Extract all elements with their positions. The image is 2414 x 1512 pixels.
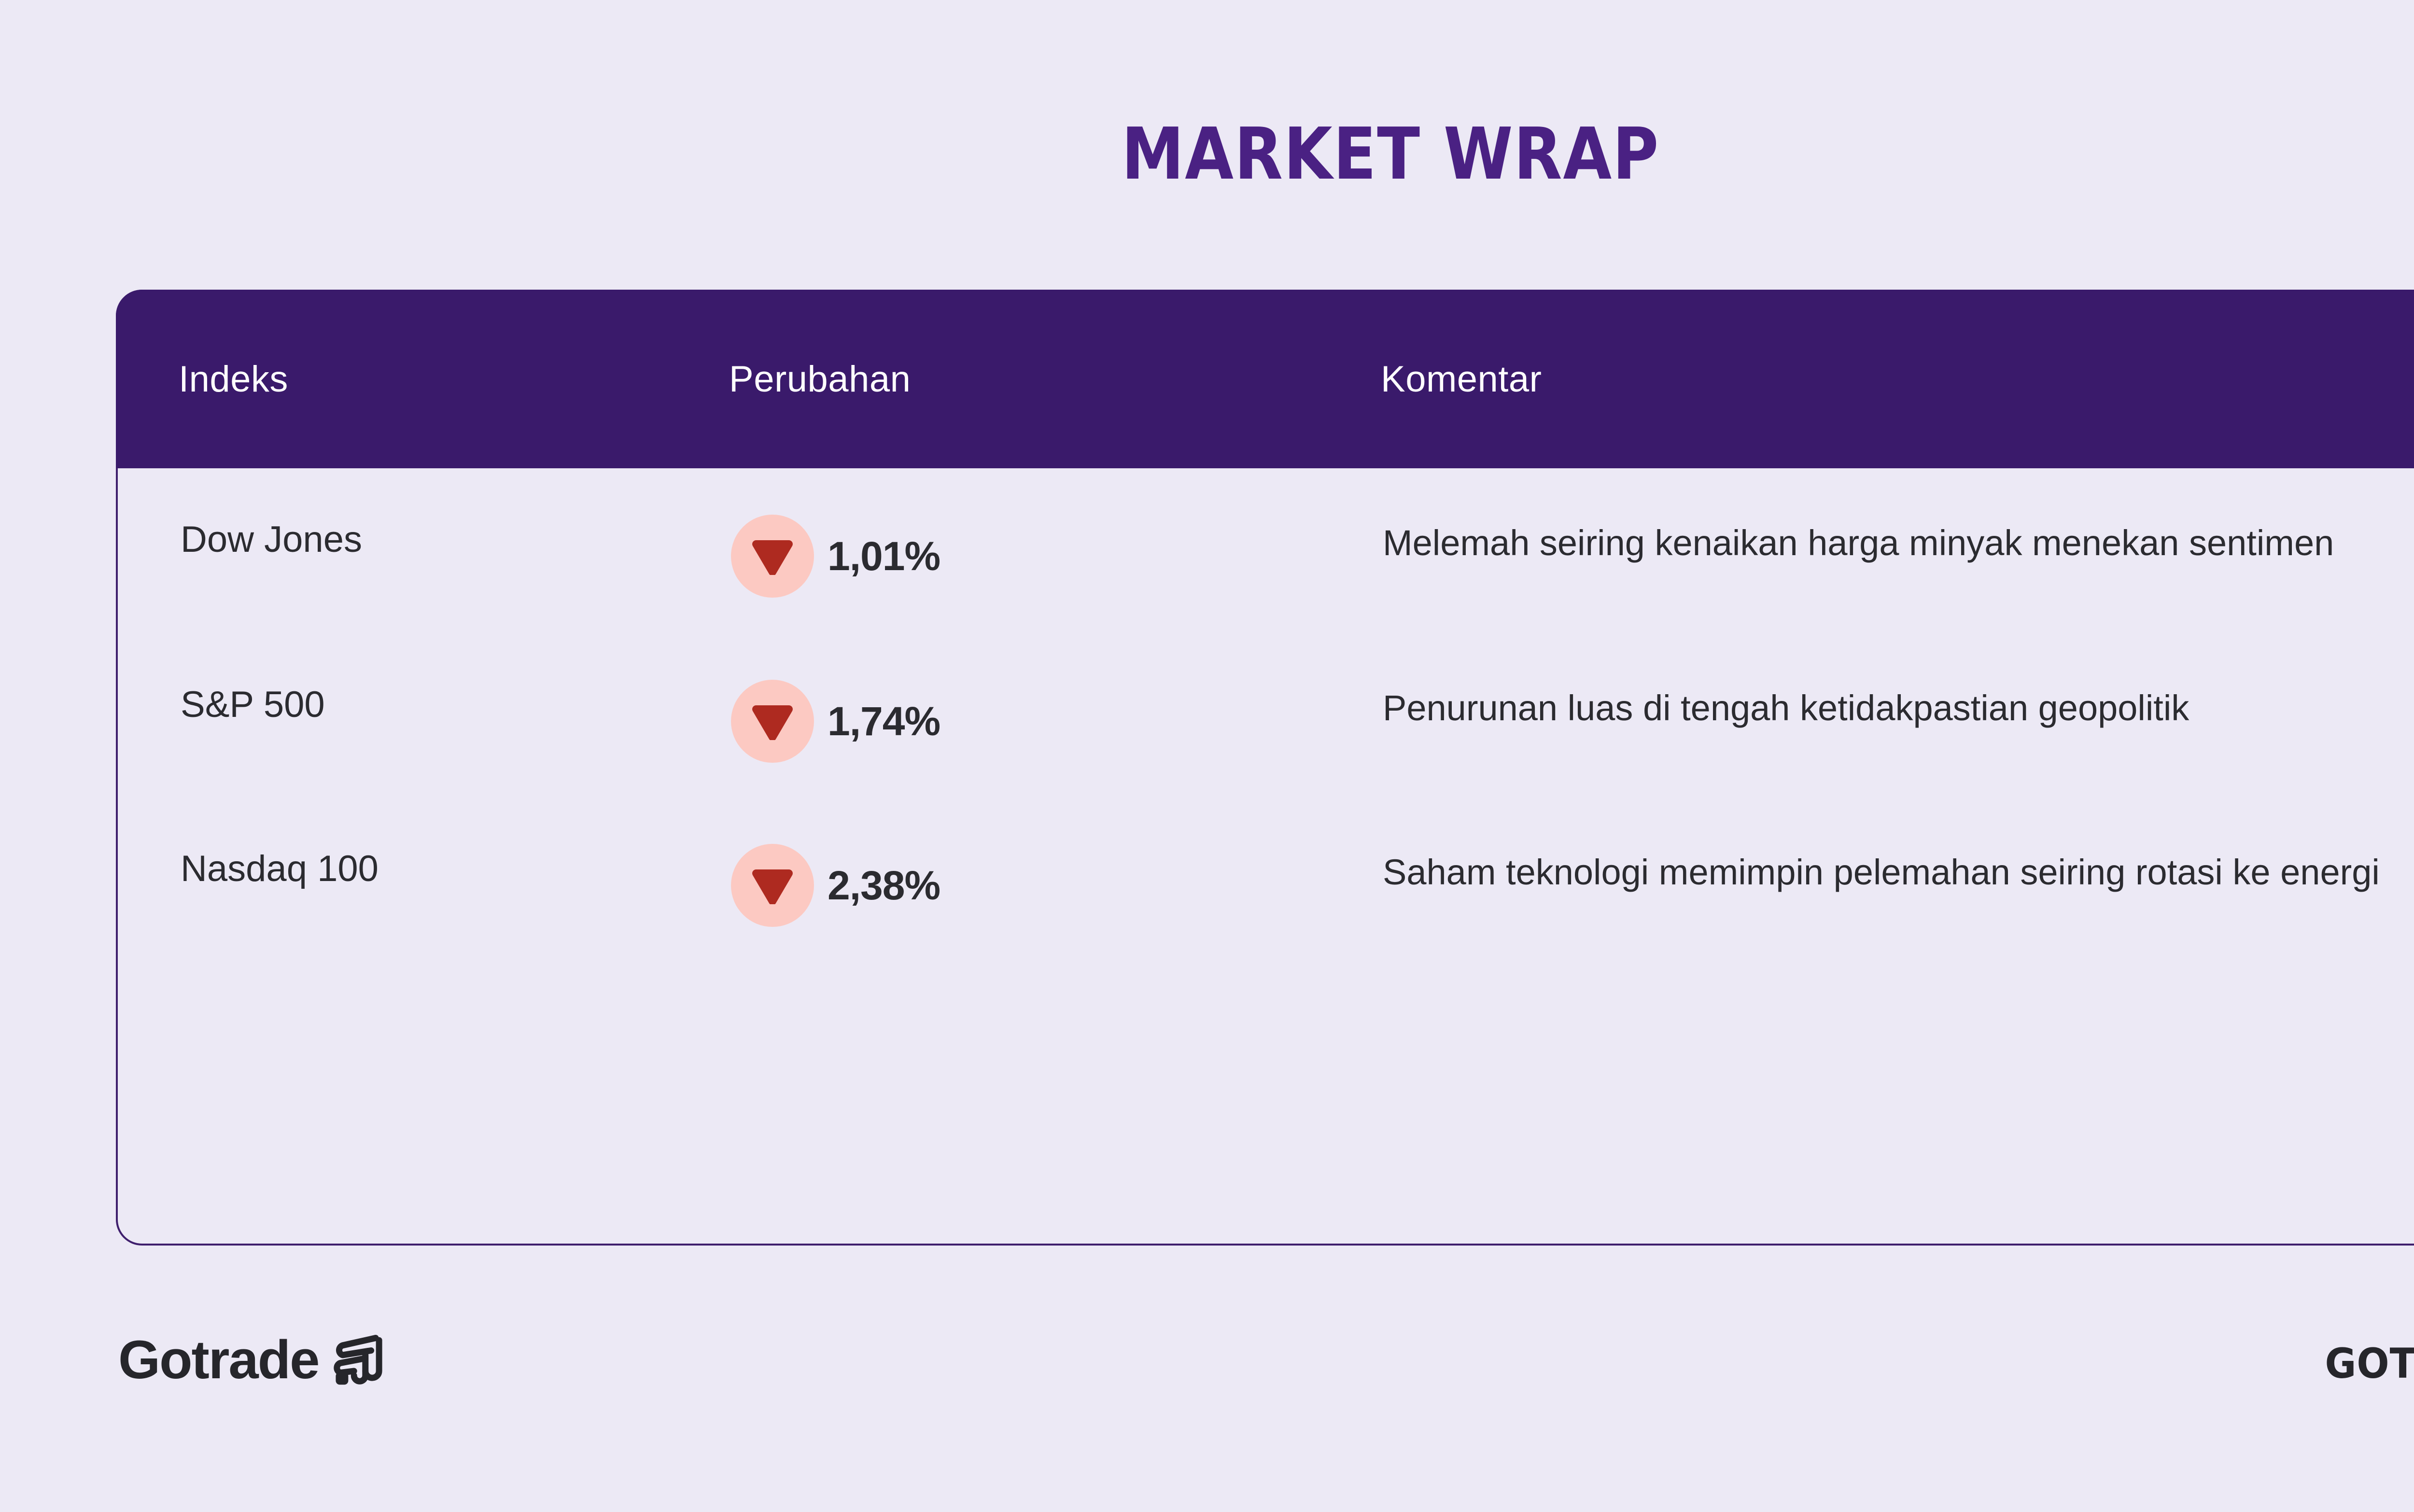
- change-value: 2,38%: [828, 865, 940, 906]
- change-value: 1,01%: [828, 536, 940, 576]
- arrow-down-icon: [731, 844, 814, 927]
- comment-text: Melemah seiring kenaikan harga minyak me…: [1383, 514, 2414, 567]
- market-table-card: Indeks Perubahan Komentar Dow Jones 1,01…: [116, 290, 2414, 1246]
- brand-logo: Gotrade: [118, 1330, 388, 1389]
- column-header-indeks: Indeks: [116, 358, 729, 400]
- table-row: S&P 500 1,74% Penurunan luas di tengah k…: [118, 664, 2414, 828]
- change-cell: 1,01%: [731, 514, 1383, 598]
- comment-text: Saham teknologi memimpin pelemahan seiri…: [1383, 843, 2414, 896]
- table-header-row: Indeks Perubahan Komentar: [116, 290, 2414, 468]
- index-name: Nasdaq 100: [118, 843, 731, 892]
- table-row: Dow Jones 1,01% Melemah seiring kenaikan…: [118, 500, 2414, 664]
- index-name: Dow Jones: [118, 514, 731, 562]
- column-header-komentar: Komentar: [1381, 358, 2414, 400]
- table-row: Nasdaq 100 2,38% Saham teknologi memimpi…: [118, 828, 2414, 993]
- arrow-down-icon: [731, 680, 814, 763]
- comment-text: Penurunan luas di tengah ketidakpastian …: [1383, 679, 2414, 732]
- change-cell: 2,38%: [731, 843, 1383, 927]
- market-wrap-card: MARKET WRAP Indeks Perubahan Komentar Do…: [0, 0, 2414, 1512]
- column-header-perubahan: Perubahan: [729, 358, 1381, 400]
- gotrade-logo-icon: [331, 1330, 388, 1389]
- change-value: 1,74%: [828, 701, 940, 742]
- arrow-down-icon: [731, 515, 814, 598]
- page-title: MARKET WRAP: [167, 118, 2414, 190]
- index-name: S&P 500: [118, 679, 731, 728]
- change-cell: 1,74%: [731, 679, 1383, 763]
- table-body: Dow Jones 1,01% Melemah seiring kenaikan…: [118, 468, 2414, 1244]
- publication-name: GOTRADE DAILY: [2325, 1343, 2414, 1385]
- brand-wordmark: Gotrade: [118, 1333, 319, 1387]
